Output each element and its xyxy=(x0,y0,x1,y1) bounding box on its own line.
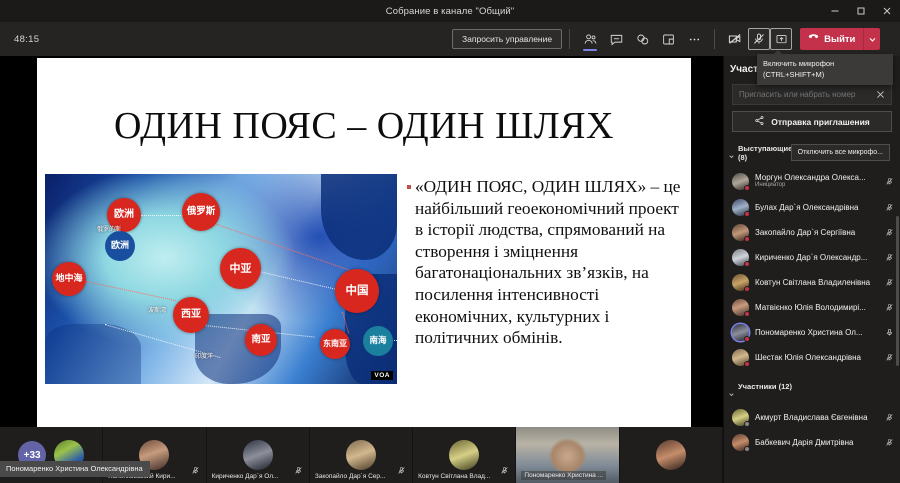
presence-badge xyxy=(744,286,750,292)
participant-row[interactable]: Акмурт Владислава Євгенівна xyxy=(724,405,900,430)
presentation-slide: ОДИН ПОЯС – ОДИН ШЛЯХ xyxy=(37,58,691,459)
participants-list: Моргун Олександра Олекса...Инициатор Бул… xyxy=(724,167,900,370)
presence-badge xyxy=(744,421,750,427)
participants-section-label: Выступающие (8) xyxy=(738,144,796,162)
avatar xyxy=(449,440,479,470)
share-screen-icon[interactable] xyxy=(770,28,792,50)
map-node: 俄罗斯 xyxy=(182,193,220,231)
presence-badge xyxy=(744,261,750,267)
participant-name: Акмурт Владислава Євгенівна xyxy=(755,413,879,422)
map-node: 南亚 xyxy=(245,324,277,356)
presence-badge xyxy=(744,311,750,317)
participant-row[interactable]: Закопайло Дар`я Сергіївна xyxy=(724,220,900,245)
mic-off-icon[interactable] xyxy=(885,253,894,262)
meeting-toolbar: 48:15 Запросить управление xyxy=(0,22,900,56)
map-node: 西亚 xyxy=(173,297,209,333)
avatar xyxy=(732,249,749,266)
leave-meeting-caret-icon[interactable] xyxy=(863,28,880,50)
avatar xyxy=(656,440,686,470)
toolbar-divider-2 xyxy=(714,29,715,49)
filmstrip-tile-name: Ковтун Світлана Влад... xyxy=(418,473,490,480)
close-icon[interactable] xyxy=(874,0,900,22)
mic-off-icon[interactable] xyxy=(885,278,894,287)
participant-row[interactable]: Бабкевич Дарія Дмитрівна xyxy=(724,430,900,455)
toolbar-icon-group xyxy=(577,26,707,52)
presence-badge xyxy=(744,185,750,191)
map-node-label: 中国 xyxy=(346,285,369,297)
voa-watermark: VOA xyxy=(371,371,393,380)
map-node: 欧洲 xyxy=(105,231,135,261)
participant-name: Кириченко Дар`я Олександр... xyxy=(755,253,879,262)
participant-row[interactable]: Пономаренко Христина Ол... xyxy=(724,320,900,345)
participant-row[interactable]: Кириченко Дар`я Олександр... xyxy=(724,245,900,270)
leave-meeting-main[interactable]: Выйти xyxy=(800,28,863,50)
map-node-label: 东南亚 xyxy=(323,340,347,348)
presence-badge xyxy=(744,361,750,367)
toolbar-media-group xyxy=(722,26,792,52)
participant-row[interactable]: Ковтун Світлана Владиленівна xyxy=(724,270,900,295)
map-node: 东南亚 xyxy=(320,329,350,359)
maximize-icon[interactable] xyxy=(848,0,874,22)
presence-badge xyxy=(744,446,750,452)
filmstrip-tile[interactable]: Ковтун Світлана Влад... xyxy=(413,427,516,483)
map-node-label: 南海 xyxy=(369,337,386,346)
window-title: Собрание в канале "Общий" xyxy=(386,6,514,17)
participant-name: Моргун Олександра Олекса... xyxy=(755,173,879,182)
close-icon[interactable] xyxy=(876,90,885,99)
participants-panel: Участники Отправ xyxy=(723,56,900,483)
filmstrip-tile[interactable]: Кириченко Дар`я Ол... xyxy=(207,427,310,483)
slide-bullet-text: «ОДИН ПОЯС, ОДИН ШЛЯХ» – це найбільший г… xyxy=(415,176,683,349)
filmstrip-tile-name: Кириченко Дар`я Ол... xyxy=(212,473,279,480)
presence-badge xyxy=(744,211,750,217)
tooltip-arrow xyxy=(774,50,782,54)
participants-section-header[interactable]: Участники (12) xyxy=(728,382,896,403)
belt-and-road-map-image: 欧洲俄罗斯欧洲地中海中亚中国西亚南亚东南亚南海南太平洋 俄罗的斯波斯湾印度洋 V… xyxy=(45,174,397,384)
tooltip-line-1: Включить микрофон xyxy=(763,58,887,69)
presenter-name-label: Пономаренко Христина Олександрівна xyxy=(0,461,150,477)
map-node-label: 俄罗斯 xyxy=(187,207,216,217)
mic-off-icon[interactable] xyxy=(748,28,770,50)
map-node: 中国 xyxy=(335,269,379,313)
avatar xyxy=(346,440,376,470)
mic-off-icon xyxy=(397,462,406,480)
participant-name: Булах Дар`я Олександрівна xyxy=(755,203,879,212)
filmstrip-tile[interactable]: Закопайло Дар`я Сер... xyxy=(310,427,413,483)
chevron-down-icon[interactable] xyxy=(728,385,735,403)
map-node-label: 中亚 xyxy=(230,263,252,274)
participant-name: Матвієнко Юлія Володимирі... xyxy=(755,303,879,312)
mic-off-icon[interactable] xyxy=(885,177,894,186)
share-icon xyxy=(754,115,765,128)
send-invitation-label: Отправка приглашения xyxy=(771,117,870,127)
slide-bullet-column: «ОДИН ПОЯС, ОДИН ШЛЯХ» – це найбільший г… xyxy=(407,174,683,399)
slide-bullet-item: «ОДИН ПОЯС, ОДИН ШЛЯХ» – це найбільший г… xyxy=(407,176,683,349)
filmstrip-tile-name: Закопайло Дар`я Сер... xyxy=(315,473,386,480)
map-node: 南海 xyxy=(363,326,393,356)
mic-off-icon[interactable] xyxy=(885,203,894,212)
map-node-label: 欧洲 xyxy=(114,210,134,220)
leave-meeting-label: Выйти xyxy=(824,34,855,45)
map-node-label: 西亚 xyxy=(181,310,201,320)
mic-off-icon[interactable] xyxy=(885,438,894,447)
breakout-rooms-icon[interactable] xyxy=(655,26,681,52)
leave-meeting-button[interactable]: Выйти xyxy=(800,28,880,50)
meeting-timer: 48:15 xyxy=(14,34,39,45)
participant-name: Ковтун Світлана Владиленівна xyxy=(755,278,879,287)
map-landmass-africa xyxy=(45,324,141,384)
teams-meeting-window: Собрание в канале "Общий" 48:15 Запросит… xyxy=(0,0,900,483)
mic-off-icon xyxy=(191,462,200,480)
participants-section-header[interactable]: Выступающие (8)Отключить все микрофо... xyxy=(728,144,896,165)
participant-row[interactable]: Шестак Юлія Олександрівна xyxy=(724,345,900,370)
avatar xyxy=(732,349,749,366)
presence-badge xyxy=(744,236,750,242)
avatar xyxy=(732,324,749,341)
request-control-button[interactable]: Запросить управление xyxy=(452,29,562,49)
avatar xyxy=(732,299,749,316)
map-node: 地中海 xyxy=(52,262,86,296)
map-node-label: 地中海 xyxy=(55,275,82,284)
map-small-label: 波斯湾 xyxy=(148,305,166,314)
mic-off-icon xyxy=(294,462,303,480)
more-options-icon[interactable] xyxy=(681,26,707,52)
shared-content-stage[interactable]: ОДИН ПОЯС – ОДИН ШЛЯХ xyxy=(0,56,723,427)
participant-name: Шестак Юлія Олександрівна xyxy=(755,353,879,362)
panel-scrollbar[interactable] xyxy=(896,216,899,366)
participant-row[interactable]: Матвієнко Юлія Володимирі... xyxy=(724,295,900,320)
mic-off-icon[interactable] xyxy=(885,413,894,422)
slide-body: 欧洲俄罗斯欧洲地中海中亚中国西亚南亚东南亚南海南太平洋 俄罗的斯波斯湾印度洋 V… xyxy=(45,174,683,399)
mute-all-button[interactable]: Отключить все микрофо... xyxy=(791,144,890,161)
chat-icon[interactable] xyxy=(603,26,629,52)
mic-off-icon xyxy=(500,462,509,480)
mic-off-icon[interactable] xyxy=(885,353,894,362)
invite-input-row[interactable] xyxy=(732,84,892,105)
mic-off-icon[interactable] xyxy=(885,228,894,237)
participants-section-label: Участники (12) xyxy=(738,382,796,391)
hangup-icon xyxy=(807,30,820,48)
avatar xyxy=(243,440,273,470)
toolbar-controls: Запросить управление xyxy=(452,22,880,56)
map-node-label: 欧洲 xyxy=(111,242,129,251)
mic-tooltip: Включить микрофон (CTRL+SHIFT+M) xyxy=(757,54,893,85)
tooltip-line-2: (CTRL+SHIFT+M) xyxy=(763,69,887,80)
avatar xyxy=(732,409,749,426)
window-title-bar: Собрание в канале "Общий" xyxy=(0,0,900,22)
mic-on-icon[interactable] xyxy=(885,328,894,337)
participants-list: Акмурт Владислава Євгенівна Бабкевич Дар… xyxy=(724,405,900,455)
participant-name: Пономаренко Христина Ол... xyxy=(755,328,879,337)
window-controls xyxy=(822,0,900,22)
presence-badge xyxy=(744,336,750,342)
map-small-label: 印度洋 xyxy=(195,351,213,360)
bullet-marker-icon xyxy=(407,185,411,189)
invite-input[interactable] xyxy=(739,90,876,99)
participants-sections: Выступающие (8)Отключить все микрофо...М… xyxy=(724,144,900,455)
participant-role: Инициатор xyxy=(755,182,785,188)
filmstrip-tile[interactable]: Пономаренко Христина ... xyxy=(516,427,619,483)
participant-row[interactable]: Моргун Олександра Олекса...Инициатор xyxy=(724,167,900,195)
slide-title: ОДИН ПОЯС – ОДИН ШЛЯХ xyxy=(37,104,691,148)
participant-name: Бабкевич Дарія Дмитрівна xyxy=(755,438,879,447)
participant-name: Закопайло Дар`я Сергіївна xyxy=(755,228,879,237)
map-node: 中亚 xyxy=(220,248,261,289)
people-icon[interactable] xyxy=(577,26,603,52)
participant-row[interactable]: Булах Дар`я Олександрівна xyxy=(724,195,900,220)
chevron-down-icon[interactable] xyxy=(728,147,735,165)
avatar xyxy=(732,274,749,291)
avatar xyxy=(732,224,749,241)
send-invitation-button[interactable]: Отправка приглашения xyxy=(732,111,892,132)
map-link-1 xyxy=(141,215,183,216)
camera-off-icon[interactable] xyxy=(722,26,748,52)
toolbar-divider-1 xyxy=(569,29,570,49)
avatar xyxy=(732,434,749,451)
reactions-icon[interactable] xyxy=(629,26,655,52)
filmstrip-tile-name: Пономаренко Христина ... xyxy=(521,471,606,480)
map-node-label: 南亚 xyxy=(251,335,270,345)
mic-off-icon[interactable] xyxy=(885,303,894,312)
filmstrip-tile[interactable] xyxy=(620,427,723,483)
avatar xyxy=(732,199,749,216)
avatar xyxy=(732,173,749,190)
minimize-icon[interactable] xyxy=(822,0,848,22)
map-small-label: 俄罗的斯 xyxy=(97,224,121,233)
